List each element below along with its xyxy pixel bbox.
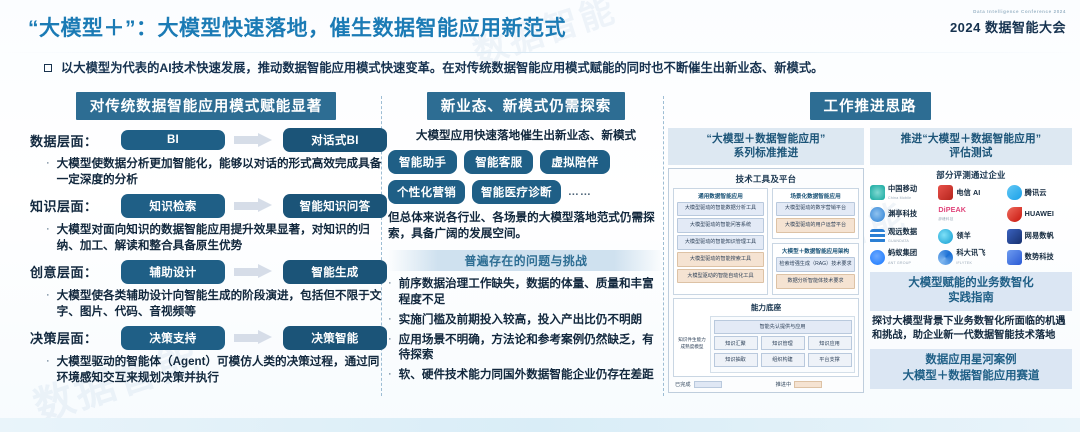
scenario-tag[interactable]: 个性化营销	[388, 180, 465, 204]
foundation-wide-chip[interactable]: 智能先认提供与应用	[714, 320, 852, 334]
telecom-ai-logo-icon	[938, 185, 953, 200]
china-mobile-logo-icon	[870, 185, 885, 200]
evaluation-block: 推进“大模型＋数据智能应用” 评估测试 部分评测通过企业 中国移动China M…	[870, 128, 1072, 393]
guide-title: 大模型赋能的业务数智化 实践指南	[870, 272, 1072, 311]
tag-row: 智能助手 智能客服 虚拟陪伴	[388, 150, 664, 174]
layer-row: 知识层面： 知识检索 智能知识问答	[30, 194, 382, 218]
layer-description-text: 大模型使数据分析更加智能化，能够以对话的形式高效完成具备一定深度的分析	[57, 156, 382, 188]
challenge-item: · 实施门槛及前期投入较高，投入产出比仍不明朗	[388, 312, 664, 328]
legend-swatch-progress	[794, 381, 822, 388]
bullet-dot-icon: ·	[46, 156, 50, 188]
challenge-item: · 应用场景不明确，方法论和参考案例仍然缺乏，有待探索	[388, 332, 664, 364]
layer-label: 数据层面：	[30, 131, 116, 150]
architecture-caption: 大模型＋数据智能应用架构	[776, 247, 855, 255]
content-columns: 对传统数据智能应用模式赋能显著 数据层面： BI 对话式BI · 大模型使数据分…	[0, 92, 1080, 422]
bottom-strip	[0, 418, 1080, 432]
tencent-cloud-logo-icon	[1007, 185, 1022, 200]
section-heading-right: 工作推进思路	[810, 92, 931, 120]
scenario-tag[interactable]: 虚拟陪伴	[540, 150, 609, 174]
partner-logo: 领羊	[938, 228, 1003, 245]
scene-apps-box: 场景化数据智能应用 大模型驱动的数字营销平台 大模型驱动的用户运营平台	[772, 188, 859, 240]
partner-logo-name: 科大讯飞IFLYTEK	[956, 249, 985, 266]
legend-item-done: 已完成	[675, 381, 722, 388]
layer-description-text: 大模型驱动的智能体（Agent）可模仿人类的决策过程，通过同环境感知交互来规划决…	[57, 354, 382, 386]
more-ellipsis: ……	[568, 186, 592, 198]
partner-logo: 渊亭科技	[870, 206, 935, 223]
bullet-dot-icon: ·	[46, 288, 50, 320]
layer-from-pill[interactable]: 知识检索	[121, 194, 225, 218]
foundation-cell[interactable]: 知识应用	[808, 336, 852, 350]
legend-swatch-done	[694, 381, 722, 388]
brand-english: Data Intelligence Conference 2024	[950, 9, 1066, 14]
section-heading-left: 对传统数据智能应用模式赋能显著	[76, 92, 337, 120]
conference-brand: Data Intelligence Conference 2024 2024 数…	[950, 9, 1066, 36]
architecture-box: 大模型＋数据智能应用架构 检索增强生成（RAG）技术要求 数据分析智能体技术要求	[772, 243, 859, 295]
legend-label: 已完成	[675, 381, 691, 388]
foundation-cell[interactable]: 组织构建	[761, 353, 805, 367]
middle-lead-text: 大模型应用快速落地催生出新业态、新模式	[388, 128, 664, 144]
foundation-cell[interactable]: 知识管理	[761, 336, 805, 350]
standard-chip[interactable]: 检索增强生成（RAG）技术要求	[776, 257, 855, 271]
layer-description-text: 大模型使各类辅助设计向智能生成的阶段演进，包括但不限于文字、图片、代码、音视频等	[57, 288, 382, 320]
partner-logo: 观远数据GUANDATA	[870, 228, 935, 245]
partner-logo: 数势科技	[1007, 249, 1072, 266]
guandata-logo-icon	[870, 229, 885, 244]
bullet-dot-icon: ·	[46, 222, 50, 254]
case-title-line2: 大模型＋数据智能应用赛道	[872, 369, 1070, 385]
scenario-tag[interactable]: 智能客服	[464, 150, 533, 174]
layer-to-pill[interactable]: 智能知识问答	[283, 194, 387, 218]
scenario-tag[interactable]: 智能医疗诊断	[472, 180, 561, 204]
tech-tools-caption: 技术工具及平台	[673, 173, 859, 185]
foundation-cell[interactable]: 知识抽取	[714, 353, 758, 367]
layer-label: 创意层面：	[30, 262, 116, 281]
partner-logo-name: HUAWEI	[1025, 210, 1054, 218]
challenge-text: 实施门槛及前期投入较高，投入产出比仍不明朗	[399, 312, 642, 328]
standard-chip[interactable]: 大模型驱动的数字营销平台	[776, 202, 855, 216]
bullet-dot-icon: ·	[388, 312, 392, 328]
partner-logo-name: 腾讯云	[1025, 189, 1047, 197]
case-title-line1: 数据应用星河案例	[872, 353, 1070, 369]
ant-group-logo-icon	[870, 250, 885, 265]
status-legend: 已完成 推进中	[673, 381, 859, 388]
layer-description: · 大模型使数据分析更加智能化，能够以对话的形式高效完成具备一定深度的分析	[46, 156, 382, 188]
guide-body-text: 探讨大模型背景下业务数智化所面临的机遇和挑战，助企业新一代数据智能技术落地	[870, 311, 1072, 346]
partner-logo: 科大讯飞IFLYTEK	[938, 249, 1003, 266]
foundation-side-label: 知识件生能力成熟度模型	[677, 337, 707, 351]
standard-chip[interactable]: 大模型驱动的智能自动化工具	[677, 269, 764, 283]
lead-text: 以大模型为代表的AI技术快速发展，推动数据智能应用模式快速变革。在对传统数据智能…	[61, 60, 823, 78]
middle-paragraph: 但总体来说各行业、各场景的大模型落地范式仍需探索，具备广阔的发展空间。	[388, 210, 664, 243]
scenario-tag[interactable]: 智能助手	[388, 150, 457, 174]
layer-description-text: 大模型对面向知识的数据智能应用提升效果显著，对知识的归纳、加工、解读和整合具备原…	[57, 222, 382, 254]
partner-logo-name: 领羊	[956, 232, 971, 240]
partner-logo-name: 中国移动China Mobile	[888, 185, 917, 202]
partner-logo-name: 观远数据GUANDATA	[888, 228, 917, 245]
arrow-right-icon	[234, 133, 274, 148]
layer-row: 决策层面： 决策支持 决策智能	[30, 326, 382, 350]
tag-row: 个性化营销 智能医疗诊断 ……	[388, 180, 664, 204]
section-heading-middle: 新业态、新模式仍需探索	[427, 92, 626, 120]
layer-from-pill[interactable]: 辅助设计	[121, 260, 225, 284]
bullet-dot-icon: ·	[388, 367, 392, 383]
guide-title-line2: 实践指南	[872, 291, 1070, 306]
standard-chip[interactable]: 大模型驱动的用户运营平台	[776, 218, 855, 232]
partner-logo-name: 渊亭科技	[888, 210, 917, 218]
partner-logo-name: 蚂蚁集团ANT GROUP	[888, 249, 917, 266]
foundation-panel: 能力底座 知识件生能力成熟度模型 智能先认提供与应用 知识汇聚 知识管理 知识应…	[673, 298, 859, 377]
challenge-text: 前序数据治理工作缺失，数据的体量、质量和丰富程度不足	[399, 276, 664, 308]
netease-shufan-logo-icon	[1007, 229, 1022, 244]
partner-logo-name: DiPEAK辞峰科技	[938, 206, 966, 223]
partner-logo: 网易数帆	[1007, 228, 1072, 245]
page-title: “大模型＋”：大模型快速落地，催生数据智能应用新范式	[28, 12, 566, 42]
column-right: 工作推进思路 “大模型＋数据智能应用” 系列标准推进 技术工具及平台 通用数据智…	[668, 92, 1072, 393]
partner-logo-name: 数势科技	[1025, 253, 1054, 261]
arrow-right-icon	[234, 264, 274, 279]
challenge-item: · 软、硬件技术能力同国外数据智能企业仍存在差距	[388, 367, 664, 383]
standards-title-line2: 系列标准推进	[670, 146, 862, 160]
partner-logo-grid: 中国移动China Mobile 电信 AI 腾讯云	[870, 185, 1072, 266]
layer-description: · 大模型使各类辅助设计向智能生成的阶段演进，包括但不限于文字、图片、代码、音视…	[46, 288, 382, 320]
challenges-heading: 普遍存在的问题与挑战	[388, 250, 664, 271]
bullet-dot-icon: ·	[388, 332, 392, 364]
general-apps-caption: 通用数据智能应用	[677, 192, 764, 200]
guide-title-line1: 大模型赋能的业务数智化	[872, 276, 1070, 291]
logos-caption: 部分评测通过企业	[870, 169, 1072, 181]
layer-label: 决策层面：	[30, 328, 116, 347]
layer-description: · 大模型驱动的智能体（Agent）可模仿人类的决策过程，通过同环境感知交互来规…	[46, 354, 382, 386]
evaluation-title-line2: 评估测试	[872, 146, 1070, 160]
bullet-dot-icon: ·	[46, 354, 50, 386]
partner-logo: 电信 AI	[938, 185, 1003, 202]
partner-logo: 蚂蚁集团ANT GROUP	[870, 249, 935, 266]
partner-logo: 中国移动China Mobile	[870, 185, 935, 202]
partner-logo: DiPEAK辞峰科技	[938, 206, 1003, 223]
iflytek-logo-icon	[938, 250, 953, 265]
slide-root: 数据智能 数据智能 数据智能 “大模型＋”：大模型快速落地，催生数据智能应用新范…	[0, 0, 1080, 432]
foundation-cell[interactable]: 平台支撑	[808, 353, 852, 367]
layer-label: 知识层面：	[30, 196, 116, 215]
standard-chip[interactable]: 数据分析智能体技术要求	[776, 274, 855, 288]
lingyang-logo-icon	[938, 229, 953, 244]
legend-item-progress: 推进中	[776, 381, 823, 388]
standard-chip[interactable]: 大模型驱动的智能搜索工具	[677, 252, 764, 266]
layer-row: 数据层面： BI 对话式BI	[30, 128, 382, 152]
header-divider	[0, 52, 1080, 53]
standards-title-line1: “大模型＋数据智能应用”	[670, 132, 862, 146]
layer-to-pill[interactable]: 智能生成	[283, 260, 387, 284]
foundation-cell[interactable]: 知识汇聚	[714, 336, 758, 350]
partner-logo-name: 电信 AI	[956, 189, 980, 197]
challenge-text: 应用场景不明确，方法论和参考案例仍然缺乏，有待探索	[399, 332, 664, 364]
scene-apps-caption: 场景化数据智能应用	[776, 192, 855, 200]
standards-block: “大模型＋数据智能应用” 系列标准推进 技术工具及平台 通用数据智能应用 大模型…	[668, 128, 864, 393]
lead-paragraph: 以大模型为代表的AI技术快速发展，推动数据智能应用模式快速变革。在对传统数据智能…	[44, 60, 1054, 78]
challenge-item: · 前序数据治理工作缺失，数据的体量、质量和丰富程度不足	[388, 276, 664, 308]
foundation-caption: 能力底座	[677, 302, 855, 313]
legend-label: 推进中	[776, 381, 792, 388]
standard-chip[interactable]: 大模型驱动的智能数据分析工具	[677, 202, 764, 216]
huawei-logo-icon	[1007, 207, 1022, 222]
layer-to-pill[interactable]: 决策智能	[283, 326, 387, 350]
arrow-right-icon	[234, 330, 274, 345]
brand-chinese: 2024 数据智能大会	[950, 17, 1066, 36]
layer-to-pill[interactable]: 对话式BI	[283, 128, 387, 152]
standard-chip[interactable]: 大模型驱动的智能问答系统	[677, 218, 764, 232]
slide-header: “大模型＋”：大模型快速落地，催生数据智能应用新范式 Data Intellig…	[0, 0, 1080, 52]
layer-description: · 大模型对面向知识的数据智能应用提升效果显著，对知识的归纳、加工、解读和整合具…	[46, 222, 382, 254]
standard-chip[interactable]: 大模型驱动的智能知识管理工具	[677, 235, 764, 249]
layer-from-pill[interactable]: 决策支持	[121, 326, 225, 350]
case-title: 数据应用星河案例 大模型＋数据智能应用赛道	[870, 349, 1072, 389]
general-apps-box: 通用数据智能应用 大模型驱动的智能数据分析工具 大模型驱动的智能问答系统 大模型…	[673, 188, 768, 296]
bullet-dot-icon: ·	[388, 276, 392, 308]
column-left: 对传统数据智能应用模式赋能显著 数据层面： BI 对话式BI · 大模型使数据分…	[30, 92, 382, 392]
layer-row: 创意层面： 辅助设计 智能生成	[30, 260, 382, 284]
partner-logo: HUAWEI	[1007, 206, 1072, 223]
evaluation-title-line1: 推进“大模型＋数据智能应用”	[872, 132, 1070, 146]
evaluation-title: 推进“大模型＋数据智能应用” 评估测试	[870, 128, 1072, 165]
arrow-right-icon	[234, 198, 274, 213]
layer-from-pill[interactable]: BI	[121, 130, 225, 150]
standards-title: “大模型＋数据智能应用” 系列标准推进	[668, 128, 864, 165]
tech-tools-panel: 技术工具及平台 通用数据智能应用 大模型驱动的智能数据分析工具 大模型驱动的智能…	[668, 168, 864, 393]
yuanting-logo-icon	[870, 207, 885, 222]
challenge-text: 软、硬件技术能力同国外数据智能企业仍存在差距	[399, 367, 654, 383]
square-bullet-icon	[44, 64, 52, 72]
shushi-logo-icon	[1007, 250, 1022, 265]
partner-logo: 腾讯云	[1007, 185, 1072, 202]
partner-logo-name: 网易数帆	[1025, 232, 1054, 240]
column-middle: 新业态、新模式仍需探索 大模型应用快速落地催生出新业态、新模式 智能助手 智能客…	[388, 92, 664, 387]
